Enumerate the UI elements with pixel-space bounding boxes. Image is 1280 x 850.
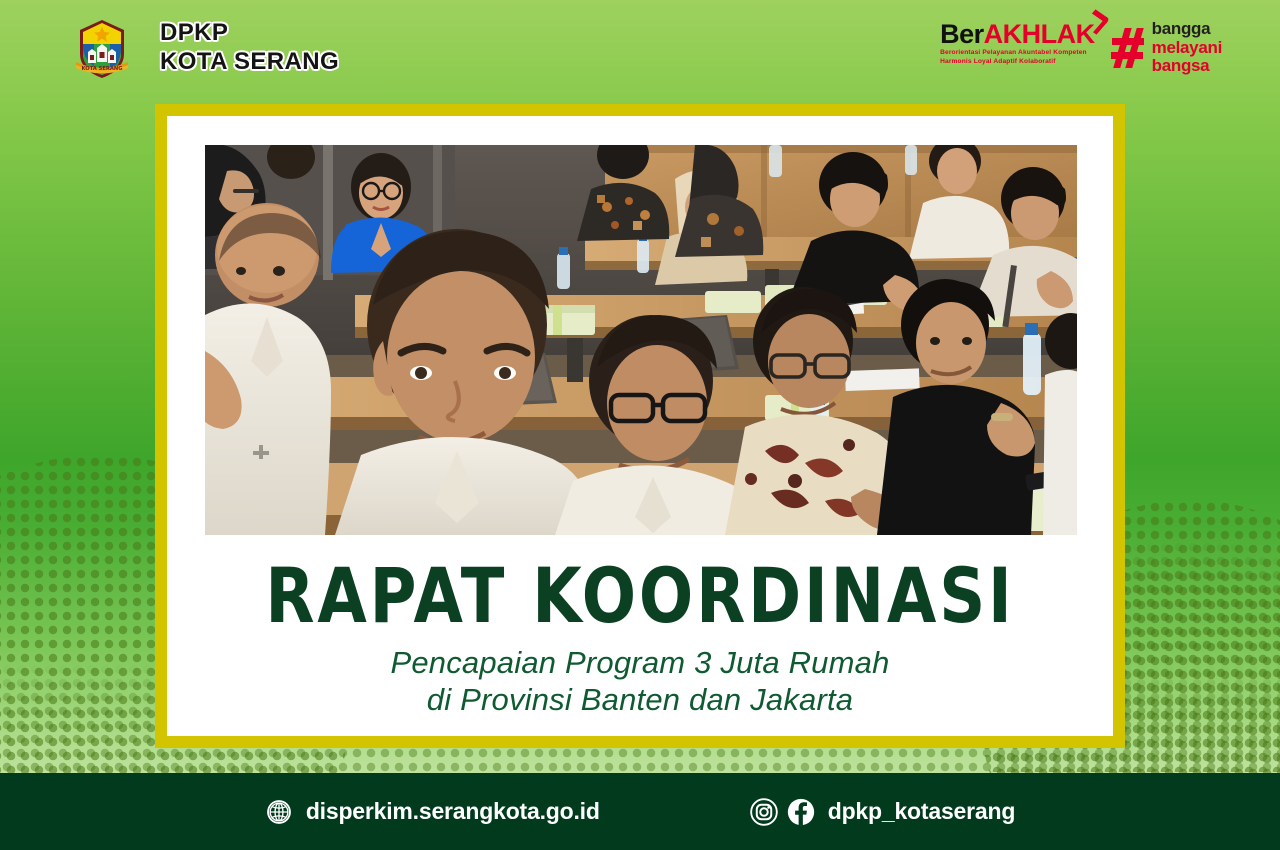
social-item[interactable]: dpkp_kotaserang xyxy=(750,798,1015,826)
shield-icon: KOTA SERANG xyxy=(72,18,132,80)
department-line-1: DPKP xyxy=(160,19,228,46)
content-frame: RAPAT KOORDINASI Pencapaian Program 3 Ju… xyxy=(155,104,1125,748)
berakhlak-values-line-2: Harmonis Loyal Adaptif Kolaboratif xyxy=(940,58,1095,66)
bangga-melayani-bangsa-logo: bangga melayani bangsa xyxy=(1111,18,1222,76)
berakhlak-prefix: Ber xyxy=(940,19,984,49)
social-handle-text: dpkp_kotaserang xyxy=(828,798,1015,825)
event-photo-illustration xyxy=(205,145,1077,535)
website-item[interactable]: disperkim.serangkota.go.id xyxy=(265,798,600,826)
subtitle: Pencapaian Program 3 Juta Rumah di Provi… xyxy=(167,644,1113,718)
bangga-line-1: bangga xyxy=(1152,20,1222,39)
bangga-line-2: melayani xyxy=(1152,39,1222,58)
poster-header: KOTA SERANG DPKP KOTA SERANG BerAKHLAK B… xyxy=(0,0,1280,100)
poster-canvas: KOTA SERANG DPKP KOTA SERANG BerAKHLAK B… xyxy=(0,0,1280,850)
department-name: DPKP KOTA SERANG xyxy=(160,18,339,76)
page-title: RAPAT KOORDINASI xyxy=(195,556,1084,639)
svg-text:KOTA SERANG: KOTA SERANG xyxy=(81,66,122,72)
berakhlak-accent: AKHLAK xyxy=(984,19,1095,49)
department-line-2: KOTA SERANG xyxy=(160,47,339,76)
event-photo xyxy=(205,145,1077,535)
city-emblem-logo: KOTA SERANG xyxy=(66,16,138,88)
globe-icon xyxy=(265,798,293,826)
bangga-line-3: bangsa xyxy=(1152,57,1222,76)
facebook-icon xyxy=(787,798,815,826)
instagram-icon xyxy=(750,798,778,826)
berakhlak-logo: BerAKHLAK Berorientasi Pelayanan Akuntab… xyxy=(940,18,1095,67)
poster-footer: disperkim.serangkota.go.id dpkp_kotasera… xyxy=(0,773,1280,850)
berakhlak-values-line-1: Berorientasi Pelayanan Akuntabel Kompete… xyxy=(940,49,1095,57)
subtitle-line-2: di Provinsi Banten dan Jakarta xyxy=(167,681,1113,718)
berakhlak-wordmark: BerAKHLAK xyxy=(940,20,1095,48)
brand-lockup: BerAKHLAK Berorientasi Pelayanan Akuntab… xyxy=(940,18,1222,80)
content-card: RAPAT KOORDINASI Pencapaian Program 3 Ju… xyxy=(167,116,1113,736)
subtitle-line-1: Pencapaian Program 3 Juta Rumah xyxy=(167,644,1113,681)
website-text: disperkim.serangkota.go.id xyxy=(306,798,600,825)
social-icon-group xyxy=(750,798,815,826)
bangga-wordmark: bangga melayani bangsa xyxy=(1152,20,1222,76)
title-block: RAPAT KOORDINASI Pencapaian Program 3 Ju… xyxy=(167,556,1113,718)
hashtag-icon xyxy=(1111,28,1145,68)
